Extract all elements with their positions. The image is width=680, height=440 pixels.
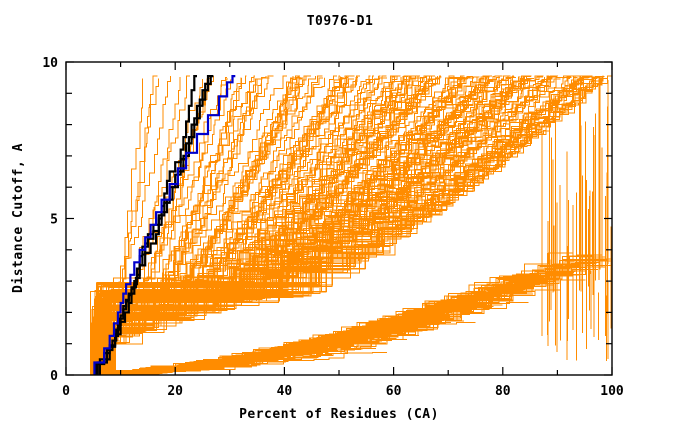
x-tick-label: 100 xyxy=(600,384,624,399)
y-axis-title: Distance Cutoff, A xyxy=(11,143,26,293)
distance-cutoff-plot: 0204060801000510 Percent of Residues (CA… xyxy=(0,0,680,440)
x-axis-title: Percent of Residues (CA) xyxy=(239,407,439,422)
x-tick-label: 20 xyxy=(167,384,183,399)
chart-page: T0976-D1 0204060801000510 Percent of Res… xyxy=(0,0,680,440)
y-tick-label: 10 xyxy=(42,56,58,71)
x-tick-label: 0 xyxy=(62,384,70,399)
y-tick-label: 0 xyxy=(50,369,58,384)
x-tick-label: 80 xyxy=(495,384,511,399)
y-tick-label: 5 xyxy=(50,213,58,228)
x-tick-label: 60 xyxy=(386,384,402,399)
x-tick-label: 40 xyxy=(277,384,293,399)
